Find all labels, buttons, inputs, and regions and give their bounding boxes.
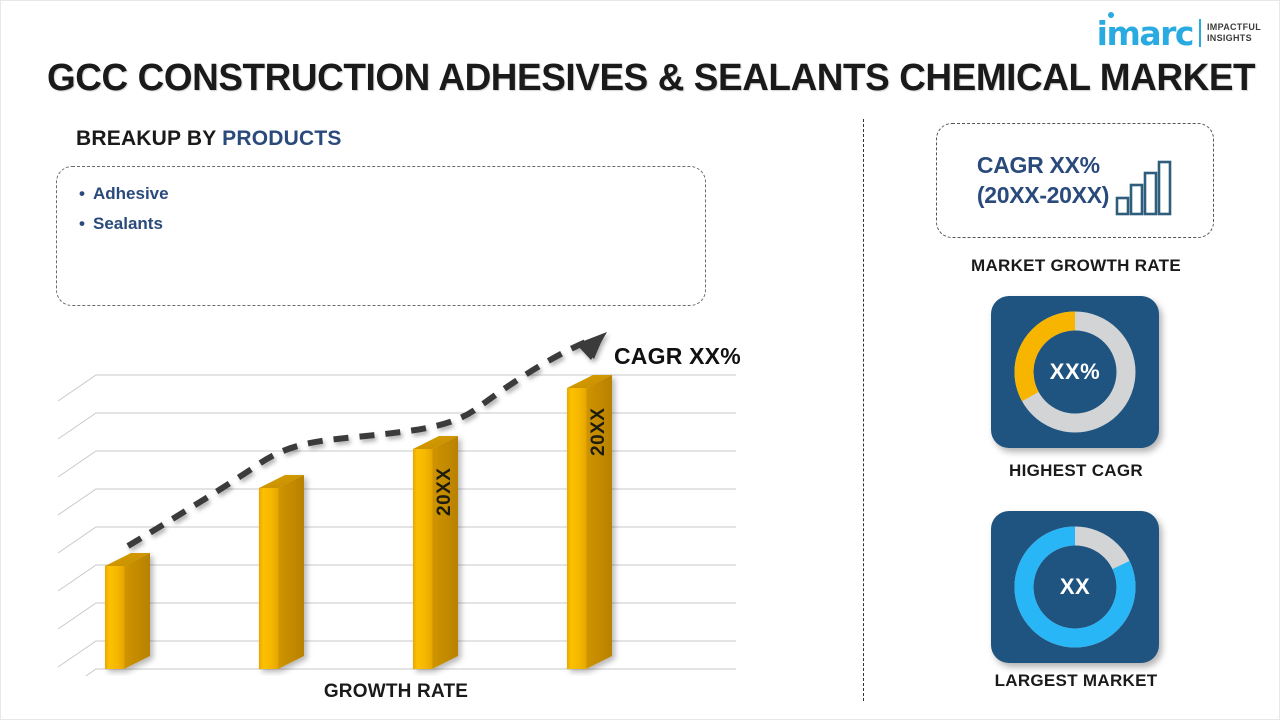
breakup-heading: BREAKUP BY PRODUCTS [76, 127, 342, 151]
logo-wordmark-text: imarc [1097, 14, 1193, 53]
cagr-box-text: CAGR XX% (20XX-20XX) [977, 151, 1109, 210]
donut-chart-largest-market: XX [1009, 521, 1141, 653]
market-growth-rate-box: CAGR XX% (20XX-20XX) [936, 123, 1214, 238]
bar-year-label: 20XX [588, 408, 610, 456]
list-item-label: Adhesive [93, 184, 169, 203]
logo-tagline: IMPACTFUL INSIGHTS [1207, 22, 1261, 45]
cagr-box-line1: CAGR XX% [977, 151, 1109, 180]
list-item: •Sealants [79, 209, 705, 239]
chart-bars [105, 375, 612, 669]
page-title: GCC CONSTRUCTION ADHESIVES & SEALANTS CH… [47, 57, 1133, 100]
breakup-heading-accent: PRODUCTS [222, 127, 341, 150]
bullet-dot-icon: • [79, 209, 93, 239]
caption-market-growth-rate: MARKET GROWTH RATE [906, 256, 1246, 276]
panel-divider [863, 119, 864, 701]
donut-chart-highest-cagr: XX% [1009, 306, 1141, 438]
slide-canvas: imarc IMPACTFUL INSIGHTS GCC CONSTRUCTIO… [0, 0, 1280, 720]
imarc-logo: imarc IMPACTFUL INSIGHTS [1097, 15, 1261, 51]
growth-rate-bar-chart: 20XX 20XX CAGR XX% GROWTH RATE [56, 331, 756, 711]
bar-chart-icon [1115, 160, 1173, 216]
chart-baseline [58, 669, 736, 676]
chart-svg [56, 331, 756, 676]
list-item-label: Sealants [93, 214, 163, 233]
breakup-heading-prefix: BREAKUP BY [76, 127, 222, 150]
breakup-products-box: •Adhesive •Sealants [56, 166, 706, 306]
largest-market-card: XX [991, 511, 1159, 663]
caption-largest-market: LARGEST MARKET [906, 671, 1246, 691]
chart-gridlines [58, 375, 736, 667]
donut-value-label: XX [1009, 521, 1141, 653]
donut-value-label: XX% [1009, 306, 1141, 438]
cagr-box-line2: (20XX-20XX) [977, 181, 1109, 210]
caption-highest-cagr: HIGHEST CAGR [906, 461, 1246, 481]
chart-x-axis-label: GROWTH RATE [56, 681, 736, 703]
bullet-dot-icon: • [79, 179, 93, 209]
chart-trendline [128, 332, 607, 546]
logo-tagline-line1: IMPACTFUL [1207, 22, 1261, 33]
bar-year-label: 20XX [434, 468, 456, 516]
logo-divider [1199, 19, 1201, 47]
list-item: •Adhesive [79, 179, 705, 209]
highest-cagr-card: XX% [991, 296, 1159, 448]
logo-wordmark: imarc [1097, 17, 1197, 50]
logo-dot-icon [1108, 12, 1114, 18]
logo-tagline-line2: INSIGHTS [1207, 33, 1261, 44]
chart-bar [259, 475, 304, 669]
chart-bar [105, 553, 150, 669]
chart-cagr-annotation: CAGR XX% [614, 343, 741, 370]
